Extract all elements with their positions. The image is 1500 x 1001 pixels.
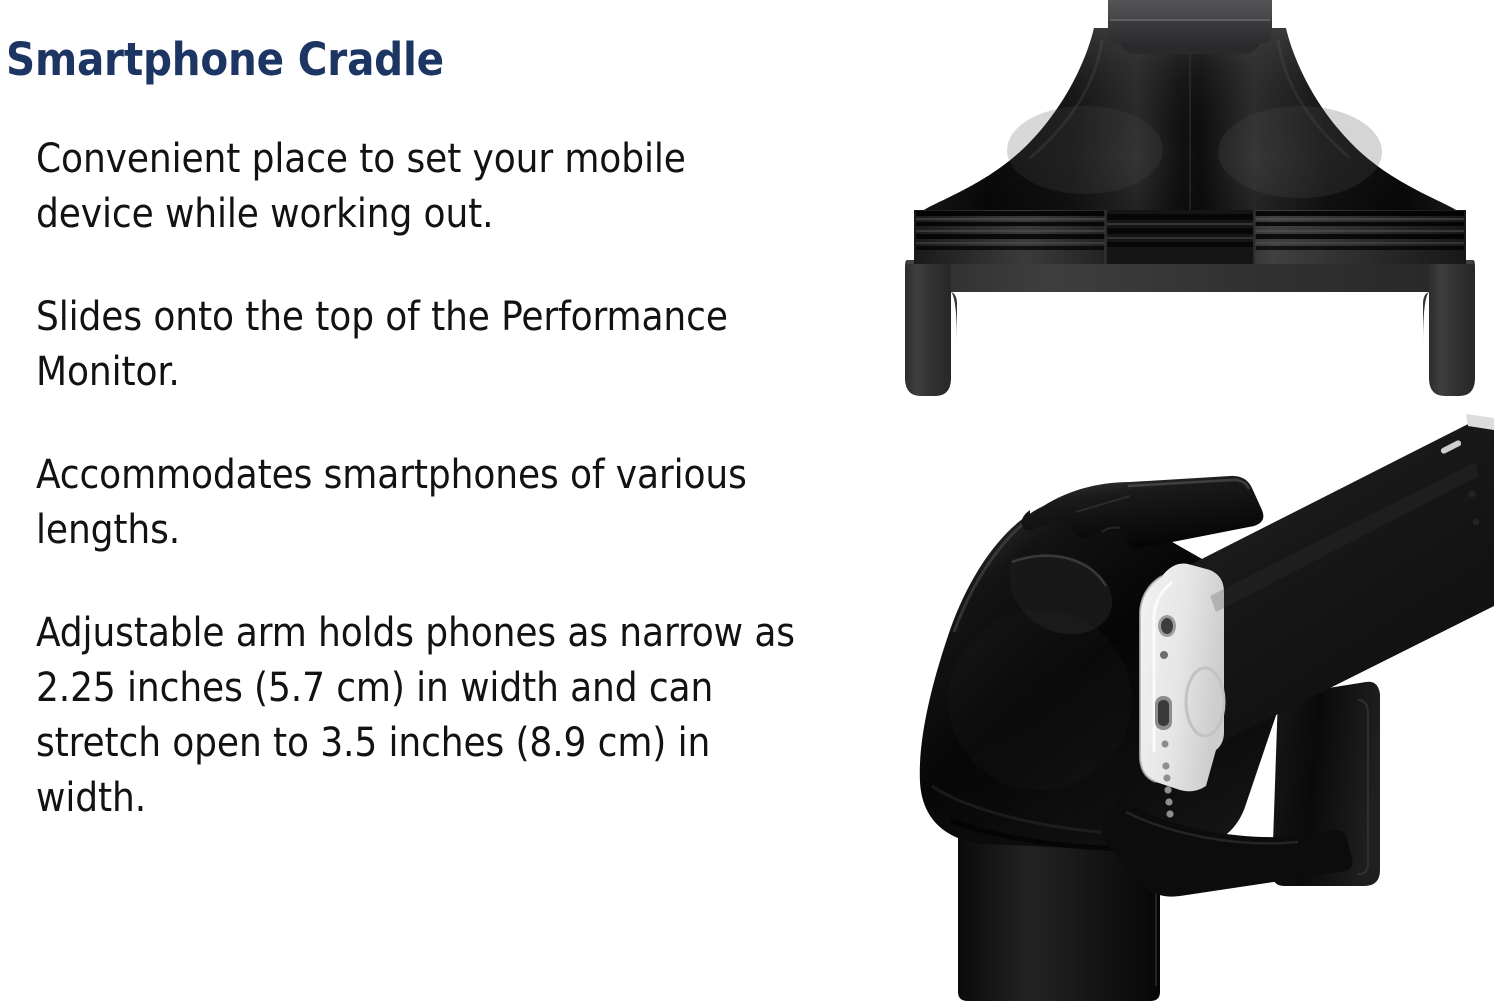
product-photo-front-view <box>880 0 1500 422</box>
cradle-legs <box>905 260 1475 396</box>
cradle-top-mounting-tab <box>1108 0 1272 54</box>
page-title: Smartphone Cradle <box>6 32 444 88</box>
feature-item-2: Slides onto the top of the Performance M… <box>36 290 796 400</box>
feature-item-4: Adjustable arm holds phones as narrow as… <box>36 606 796 826</box>
feature-item-1: Convenient place to set your mobile devi… <box>36 132 796 242</box>
product-photo-with-phone <box>880 400 1500 1001</box>
feature-list: Convenient place to set your mobile devi… <box>36 132 796 826</box>
cradle-ribbed-band <box>914 208 1466 264</box>
cradle-body <box>924 28 1456 210</box>
product-infographic-page: Smartphone Cradle Convenient place to se… <box>0 0 1500 1001</box>
feature-item-3: Accommodates smartphones of various leng… <box>36 448 796 558</box>
